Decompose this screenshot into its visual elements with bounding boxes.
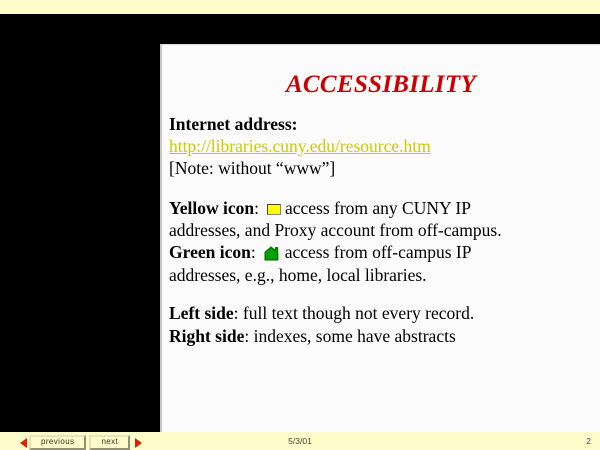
right-side-line: Right side: indexes, some have abstracts [169,325,600,347]
navigation-footer: previous next 5/3/01 2 [0,432,600,450]
internet-address-label: Internet address: [169,114,298,134]
green-icon-colon: : [251,242,256,262]
slide-content-panel: ACCESSIBILITY Internet address: http://l… [160,44,600,437]
top-decorative-strip [0,0,600,14]
left-side-line: Left side: full text though not every re… [169,302,600,324]
footer-page-number: 2 [586,436,591,446]
internet-address-line: Internet address: [169,113,600,135]
url-line: http://libraries.cuny.edu/resource.htm [169,135,600,157]
left-side-label: Left side [169,303,234,323]
left-side-text: : full text though not every record. [234,303,475,323]
yellow-icon-line: Yellow icon:access from any CUNY IP [169,197,600,219]
green-icon-line: Green icon:access from off-campus IP [169,241,600,263]
green-icon-label: Green icon [169,242,251,262]
right-side-text: : indexes, some have abstracts [244,326,455,346]
yellow-icon-line-2: addresses, and Proxy account from off-ca… [169,219,600,241]
yellow-icon-colon: : [254,198,259,218]
note-line: [Note: without “www”] [169,157,600,179]
slide-title: ACCESSIBILITY [180,71,582,99]
slide-frame: ACCESSIBILITY Internet address: http://l… [0,14,600,432]
green-house-icon [264,244,279,259]
yellow-icon-text-1: access from any CUNY IP [285,198,471,218]
green-icon-text-1: access from off-campus IP [285,242,472,262]
yellow-icon-label: Yellow icon [169,198,254,218]
yellow-square-icon [267,204,281,215]
green-icon-line-2: addresses, e.g., home, local libraries. [169,264,600,286]
spacer-two [169,286,600,302]
footer-date: 5/3/01 [0,436,600,446]
spacer-one [169,180,600,197]
resource-url-link[interactable]: http://libraries.cuny.edu/resource.htm [169,136,431,156]
right-side-label: Right side [169,326,244,346]
slide-body: Internet address: http://libraries.cuny.… [169,113,600,348]
